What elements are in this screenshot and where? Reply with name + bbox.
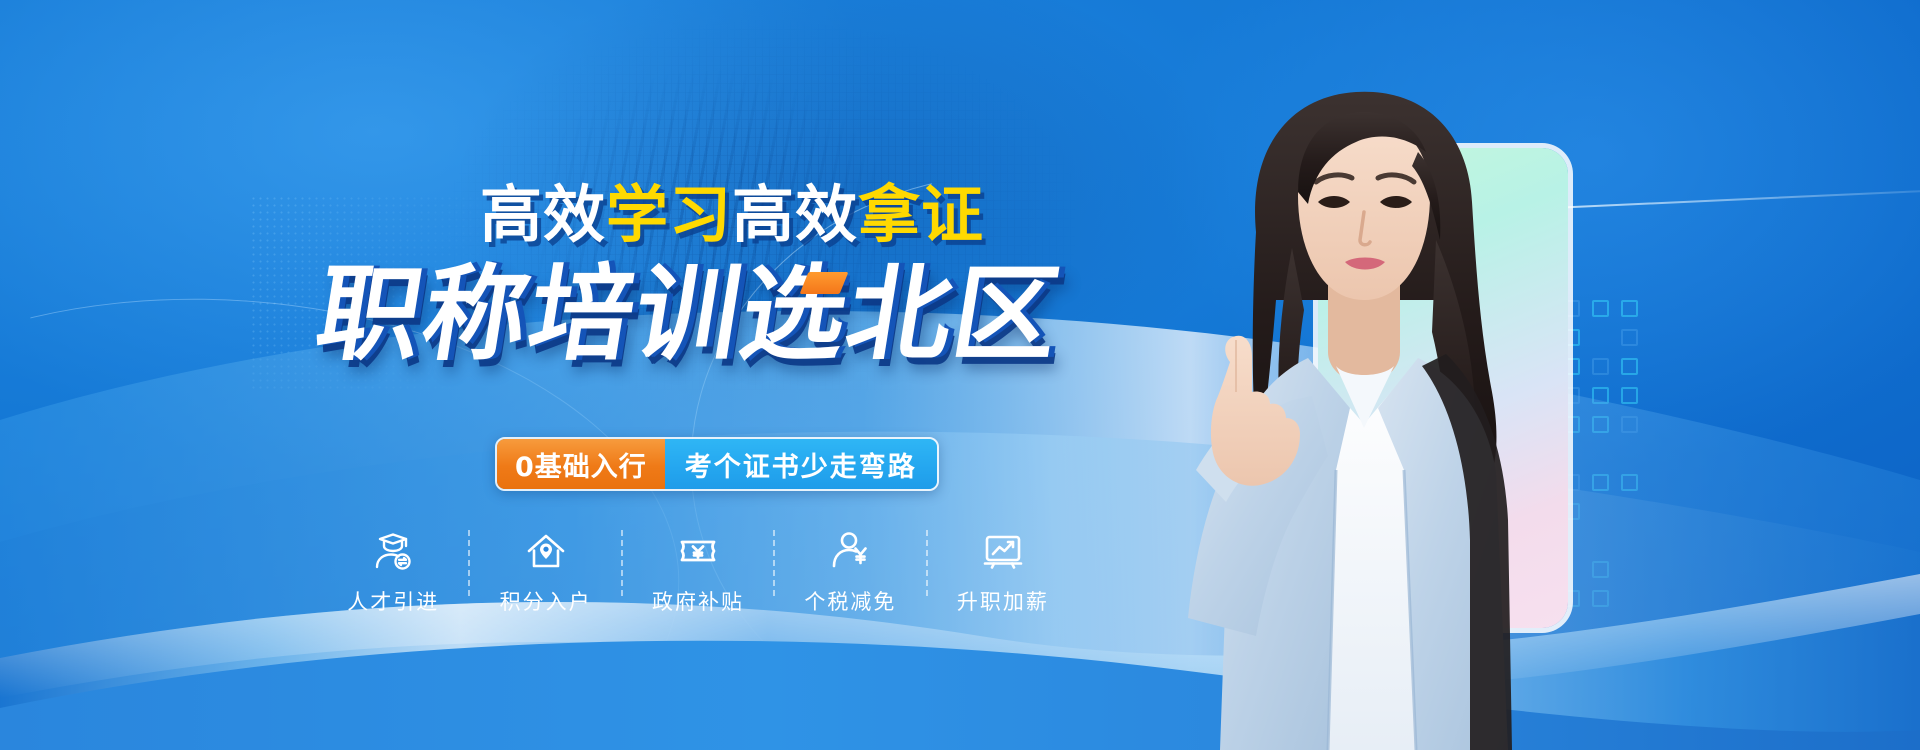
- growth-chart-icon: [981, 528, 1025, 574]
- headline-top-seg-3: 高效: [732, 178, 858, 251]
- tagline-badge: 0基础入行: [497, 439, 665, 489]
- feature-item-subsidy[interactable]: 政府补贴: [623, 528, 773, 616]
- headline-top-seg-4: 拿证: [858, 178, 984, 251]
- tagline-pill[interactable]: 0基础入行 考个证书少走弯路: [495, 437, 939, 491]
- ticket-yuan-icon: [676, 528, 720, 574]
- feature-label: 政府补贴: [652, 586, 744, 616]
- feature-label: 升职加薪: [957, 586, 1049, 616]
- feature-item-tax[interactable]: 个税减免: [775, 528, 925, 616]
- feature-item-residency[interactable]: 积分入户: [470, 528, 620, 616]
- headline-top: 高效学习高效拿证: [480, 184, 984, 246]
- feature-label: 积分入户: [500, 586, 592, 616]
- tagline-text: 考个证书少走弯路: [665, 439, 937, 489]
- headline-top-seg-1: 高效: [480, 178, 606, 251]
- person-yuan-icon: [828, 528, 872, 574]
- copy-block: 高效学习高效拿证 职称培训选北区 0基础入行 考个证书少走弯路: [0, 0, 1180, 750]
- graduate-person-icon: [371, 528, 415, 574]
- promo-banner: 高效学习高效拿证 职称培训选北区 0基础入行 考个证书少走弯路: [0, 0, 1920, 750]
- feature-label: 个税减免: [804, 586, 896, 616]
- feature-item-promotion[interactable]: 升职加薪: [928, 528, 1078, 616]
- feature-label: 人才引进: [347, 586, 439, 616]
- house-pin-icon: [524, 528, 568, 574]
- headline-main: 职称培训选北区: [310, 262, 1068, 366]
- feature-list: 人才引进 积分入户: [318, 528, 1078, 618]
- headline-top-seg-2: 学习: [606, 178, 732, 251]
- feature-item-talent[interactable]: 人才引进: [318, 528, 468, 616]
